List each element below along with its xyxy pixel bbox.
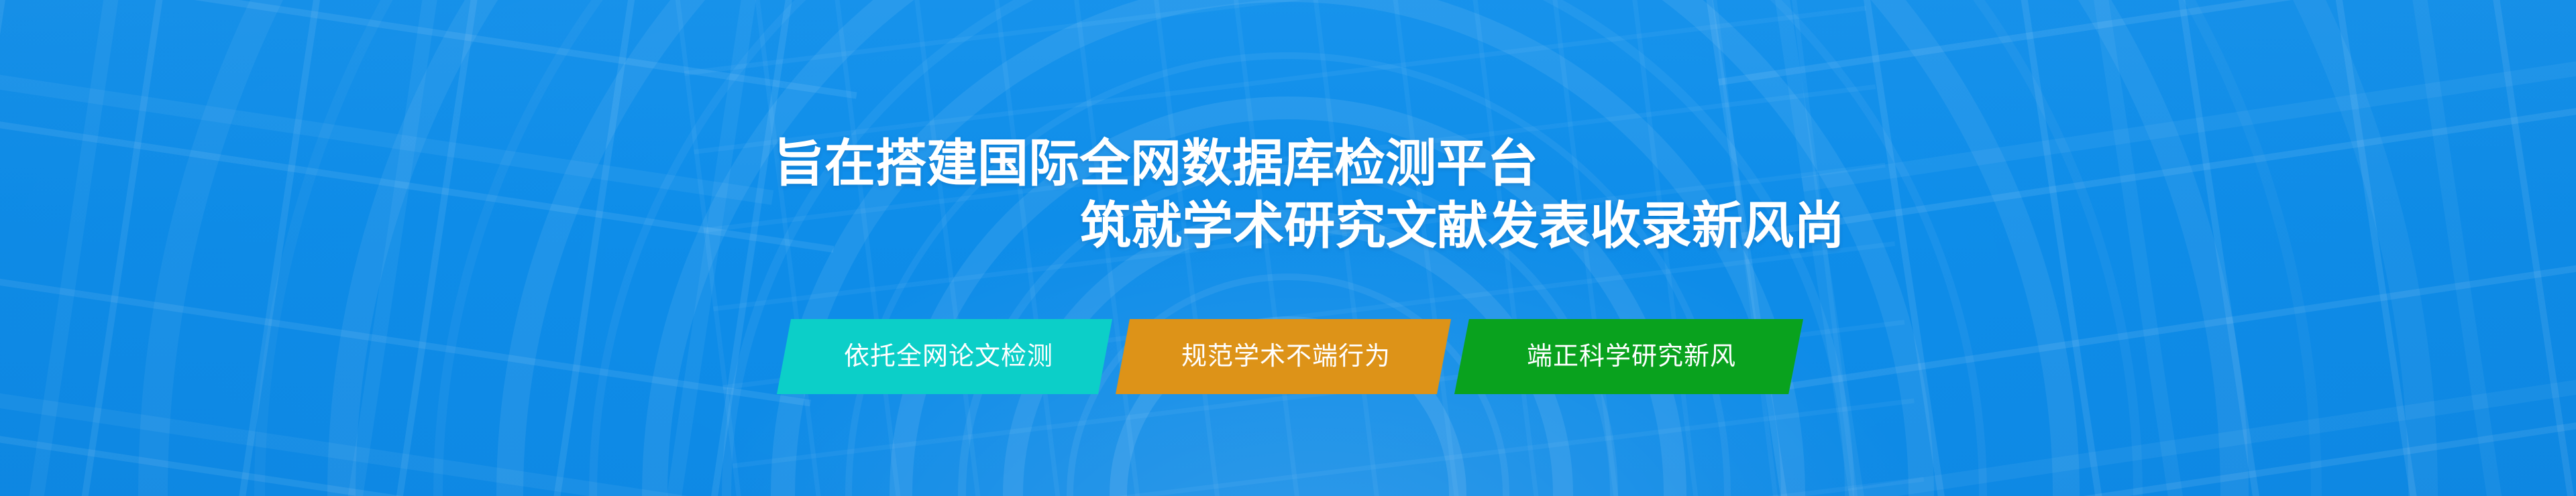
feature-tag-label: 规范学术不端行为 [1181,319,1391,394]
headline: 旨在搭建国际全网数据库检测平台 筑就学术研究文献发表收录新风尚 [0,133,2576,257]
feature-tag-integrity[interactable]: 端正科学研究新风 [1454,319,1803,394]
feature-tag-detection[interactable]: 依托全网论文检测 [777,319,1112,394]
feature-tag-misconduct[interactable]: 规范学术不端行为 [1116,319,1451,394]
headline-line-2: 筑就学术研究文献发表收录新风尚 [1080,195,2576,257]
feature-tag-list: 依托全网论文检测 规范学术不端行为 端正科学研究新风 [0,319,2576,394]
headline-line-1: 旨在搭建国际全网数据库检测平台 [773,133,2576,195]
promo-banner: 旨在搭建国际全网数据库检测平台 筑就学术研究文献发表收录新风尚 依托全网论文检测… [0,0,2576,496]
banner-content: 旨在搭建国际全网数据库检测平台 筑就学术研究文献发表收录新风尚 依托全网论文检测… [0,0,2576,496]
feature-tag-label: 依托全网论文检测 [844,319,1053,394]
feature-tag-label: 端正科学研究新风 [1527,319,1736,394]
